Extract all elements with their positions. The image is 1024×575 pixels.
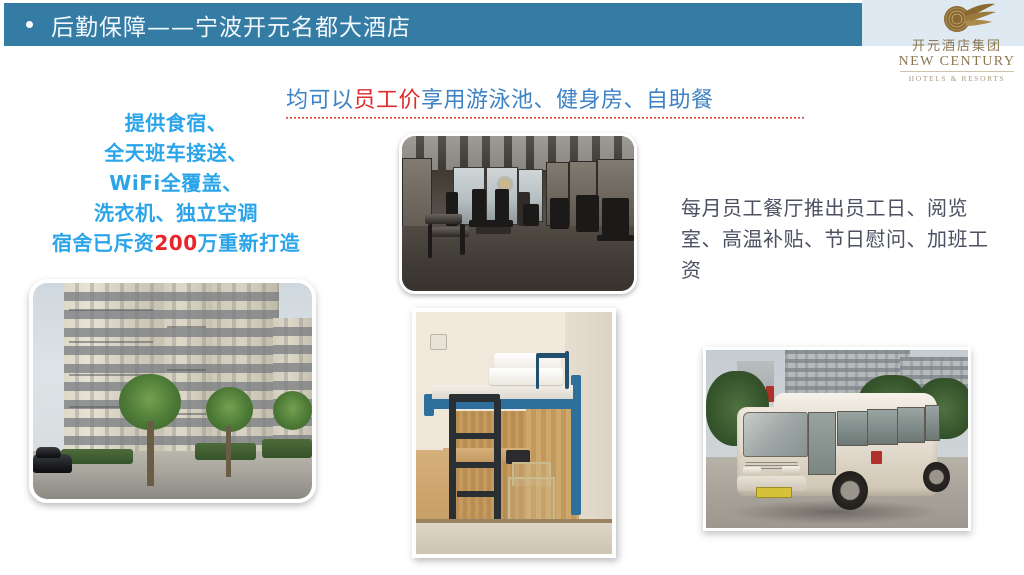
investment-suffix: 万重新打造 bbox=[198, 231, 301, 255]
benefit-line: 提供食宿、 bbox=[6, 108, 346, 138]
benefit-line: WiFi全覆盖、 bbox=[6, 168, 346, 198]
title-bar: 后勤保障——宁波开元名都大酒店 bbox=[4, 3, 862, 46]
dormitory-room-photo bbox=[412, 308, 616, 558]
center-heading: 均可以员工价享用游泳池、健身房、自助餐 bbox=[286, 86, 806, 119]
benefits-left-text: 提供食宿、 全天班车接送、 WiFi全覆盖、 洗衣机、独立空调 宿舍已斥资200… bbox=[6, 108, 346, 258]
slide-header: 后勤保障——宁波开元名都大酒店 bbox=[0, 0, 1024, 46]
center-heading-highlight: 员工价 bbox=[354, 88, 422, 113]
logo-tagline: HOTELS & RESORTS bbox=[900, 71, 1014, 85]
investment-amount: 200 bbox=[154, 231, 197, 255]
gym-photo bbox=[399, 133, 637, 294]
brand-logo: 开元酒店集团 NEW CENTURY HOTELS & RESORTS bbox=[890, 2, 1024, 85]
benefits-right-text: 每月员工餐厅推出员工日、阅览室、高温补贴、节日慰问、加班工资 bbox=[681, 193, 1001, 286]
shuttle-bus-photo bbox=[703, 347, 971, 531]
investment-prefix: 宿舍已斥资 bbox=[52, 231, 155, 255]
bullet-dot-icon bbox=[26, 21, 33, 28]
benefit-line: 洗衣机、独立空调 bbox=[6, 198, 346, 228]
new-century-emblem-icon bbox=[890, 2, 1024, 38]
center-heading-suffix: 享用游泳池、健身房、自助餐 bbox=[421, 88, 714, 113]
staff-dormitory-building-photo bbox=[29, 279, 316, 503]
logo-chinese-name: 开元酒店集团 bbox=[890, 39, 1024, 54]
logo-english-name: NEW CENTURY bbox=[890, 54, 1024, 70]
benefit-line: 全天班车接送、 bbox=[6, 138, 346, 168]
page-title: 后勤保障——宁波开元名都大酒店 bbox=[51, 8, 411, 42]
benefit-line-investment: 宿舍已斥资200万重新打造 bbox=[6, 228, 346, 258]
